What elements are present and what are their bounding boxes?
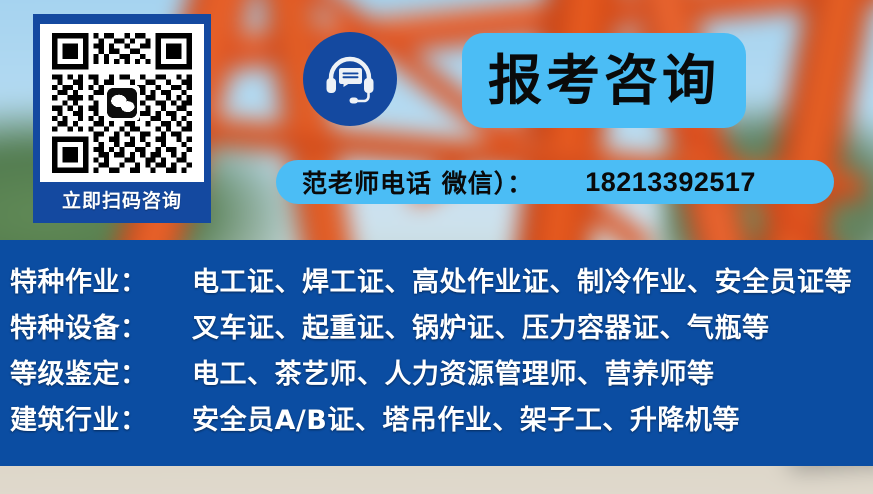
list-item: 建筑行业： 安全员A/B证、塔吊作业、架子工、升降机等 <box>10 398 873 444</box>
list-item: 等级鉴定： 电工、茶艺师、人力资源管理师、营养师等 <box>10 352 873 398</box>
category-label: 建筑行业： <box>10 398 178 437</box>
headset-support-icon <box>321 50 379 108</box>
category-items: 电工证、焊工证、高处作业证、制冷作业、安全员证等 <box>192 260 852 299</box>
certificate-list-panel: 特种作业： 电工证、焊工证、高处作业证、制冷作业、安全员证等 特种设备： 叉车证… <box>0 240 873 466</box>
contact-label: 范老师电话 微信）： <box>302 164 533 200</box>
wechat-qr-code <box>47 28 197 178</box>
category-label: 特种作业： <box>10 260 178 299</box>
qr-code-card[interactable]: 立即扫码咨询 <box>33 14 211 223</box>
category-label: 等级鉴定： <box>10 352 178 391</box>
qr-caption: 立即扫码咨询 <box>62 182 182 220</box>
consult-cta-label: 报考咨询 <box>488 54 720 108</box>
contact-number[interactable]: 18213392517 <box>585 167 756 198</box>
qr-code-image[interactable] <box>40 24 204 182</box>
contact-pill[interactable]: 范老师电话 微信）： 18213392517 <box>276 160 834 204</box>
promo-poster: 立即扫码咨询 报考咨询 范老师电话 微信）： 18213392517 特种作业：… <box>0 0 873 494</box>
category-items: 电工、茶艺师、人力资源管理师、营养师等 <box>192 352 715 391</box>
category-label: 特种设备： <box>10 306 178 345</box>
list-item: 特种作业： 电工证、焊工证、高处作业证、制冷作业、安全员证等 <box>10 260 873 306</box>
category-items: 叉车证、起重证、锅炉证、压力容器证、气瓶等 <box>192 306 770 345</box>
consult-cta-button[interactable]: 报考咨询 <box>462 33 746 128</box>
list-item: 特种设备： 叉车证、起重证、锅炉证、压力容器证、气瓶等 <box>10 306 873 352</box>
category-items: 安全员A/B证、塔吊作业、架子工、升降机等 <box>192 398 740 437</box>
support-badge[interactable] <box>303 32 397 126</box>
